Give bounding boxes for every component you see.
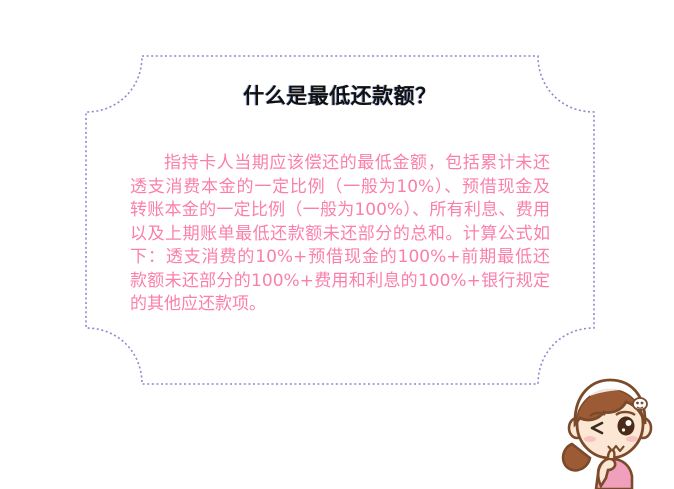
body-paragraph: 指持卡人当期应该偿还的最低金额，包括累计未还透支消费本金的一定比例（一般为10%… (130, 152, 550, 317)
hair-clip (633, 398, 647, 410)
blush-left (584, 436, 596, 442)
page-title: 什么是最低还款额？ (86, 80, 594, 110)
finger (608, 450, 614, 458)
slide-canvas: 什么是最低还款额？ 指持卡人当期应该偿还的最低金额，包括累计未还透支消费本金的一… (0, 0, 674, 489)
blush-right (626, 436, 638, 442)
cartoon-girl-illustration (546, 366, 674, 489)
card-content: 什么是最低还款额？ 指持卡人当期应该偿还的最低金额，包括累计未还透支消费本金的一… (86, 56, 594, 384)
